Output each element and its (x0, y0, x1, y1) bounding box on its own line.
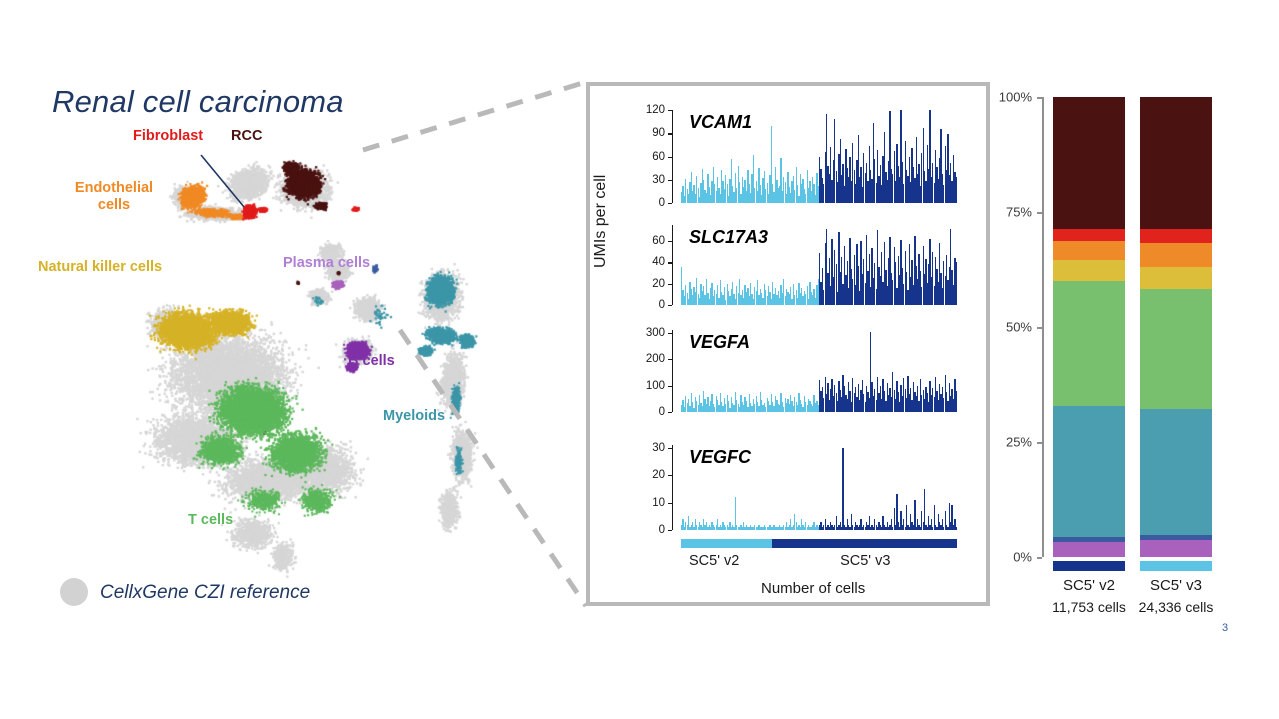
stack-segment (1053, 97, 1125, 229)
expression-bar (956, 527, 957, 530)
stack-segment (1053, 260, 1125, 281)
protocol-name-label: SC5' v3 (1121, 577, 1231, 594)
y-axis-tick-label: 60 (629, 151, 665, 163)
stacked-bar-sc5-v3 (1140, 97, 1212, 557)
y-axis-tick-label: 0 (629, 406, 665, 418)
slide-number: 3 (1222, 622, 1228, 634)
protocol-bar-sc5-v2 (681, 539, 772, 548)
y-axis-tick-label: 120 (629, 104, 665, 116)
y-axis-tick-label: 60 (629, 235, 665, 247)
expression-bar (956, 391, 957, 412)
y-axis-tick (668, 475, 672, 476)
y-axis-tick-label: 30 (629, 174, 665, 186)
stack-segment (1140, 243, 1212, 266)
protocol-color-bar (1053, 561, 1125, 571)
protocol-color-bar (1140, 561, 1212, 571)
y-axis-tick (668, 305, 672, 306)
y-axis-tick-label: 20 (629, 469, 665, 481)
stack-segment (1140, 535, 1212, 540)
y-axis-tick (668, 530, 672, 531)
y-axis-tick-label: 40 (629, 256, 665, 268)
y-axis-tick (668, 448, 672, 449)
y-axis-tick (668, 503, 672, 504)
y-axis-tick (668, 110, 672, 111)
y-axis-tick (668, 333, 672, 334)
y-axis-tick-label: 10 (629, 497, 665, 509)
percent-axis-tick-label: 0% (980, 550, 1032, 565)
stack-segment (1053, 406, 1125, 537)
protocol-label-sc5-v3: SC5' v3 (840, 553, 890, 569)
composition-stacked-bar-chart: 0%25%50%75%100%SC5' v211,753 cellsSC5' v… (1000, 80, 1279, 640)
percent-axis-tick (1037, 557, 1042, 559)
y-axis-tick-label: 100 (629, 380, 665, 392)
y-axis-tick (668, 180, 672, 181)
percent-axis-tick-label: 50% (980, 320, 1032, 335)
y-axis-tick-label: 90 (629, 127, 665, 139)
cell-count-label: 24,336 cells (1121, 599, 1231, 615)
stack-segment (1053, 281, 1125, 406)
y-axis-tick (668, 157, 672, 158)
expression-bar (956, 262, 957, 305)
percent-axis-tick (1037, 327, 1042, 329)
y-axis-tick (668, 262, 672, 263)
gene-bar-plot-vcam1 (681, 110, 957, 203)
y-axis-tick (668, 412, 672, 413)
stack-segment (1140, 97, 1212, 229)
protocol-bar-sc5-v3 (772, 539, 957, 548)
y-axis-tick (668, 359, 672, 360)
gene-bar-plot-vegfa (681, 330, 957, 412)
stack-segment (1140, 267, 1212, 290)
y-axis-line (672, 110, 673, 203)
y-axis-tick (668, 241, 672, 242)
y-axis-tick-label: 0 (629, 197, 665, 209)
stack-segment (1140, 409, 1212, 535)
percent-axis-tick (1037, 97, 1042, 99)
y-axis-tick-label: 300 (629, 327, 665, 339)
y-axis-tick (668, 284, 672, 285)
percent-axis-tick-label: 25% (980, 435, 1032, 450)
percent-axis-tick-label: 100% (980, 90, 1032, 105)
y-axis-tick-label: 0 (629, 299, 665, 311)
stack-segment (1053, 229, 1125, 241)
stack-segment (1140, 229, 1212, 243)
percent-axis-line (1042, 97, 1044, 557)
stack-segment (1053, 537, 1125, 542)
stack-segment (1053, 241, 1125, 260)
y-axis-tick-label: 30 (629, 442, 665, 454)
y-axis-tick (668, 386, 672, 387)
y-axis-tick-label: 200 (629, 353, 665, 365)
y-axis-tick-label: 20 (629, 278, 665, 290)
stack-segment (1053, 542, 1125, 557)
percent-axis-tick (1037, 442, 1042, 444)
y-axis-line (672, 225, 673, 305)
y-axis-line (672, 445, 673, 530)
stack-segment (1140, 289, 1212, 409)
gene-bar-plot-vegfc (681, 445, 957, 530)
expression-bar (842, 448, 843, 530)
stack-segment (1140, 540, 1212, 557)
y-axis-tick (668, 203, 672, 204)
gene-panel-x-axis-label: Number of cells (761, 580, 865, 597)
gene-bar-plot-slc17a3 (681, 225, 957, 305)
expression-bar (956, 177, 957, 203)
stacked-bar-sc5-v2 (1053, 97, 1125, 557)
y-axis-tick-label: 0 (629, 524, 665, 536)
gene-panel-y-axis-label: UMIs per cell (592, 175, 610, 268)
y-axis-line (672, 330, 673, 412)
percent-axis-tick (1037, 212, 1042, 214)
y-axis-tick (668, 133, 672, 134)
expression-bar (914, 500, 915, 530)
percent-axis-tick-label: 75% (980, 205, 1032, 220)
protocol-label-sc5-v2: SC5' v2 (689, 553, 739, 569)
